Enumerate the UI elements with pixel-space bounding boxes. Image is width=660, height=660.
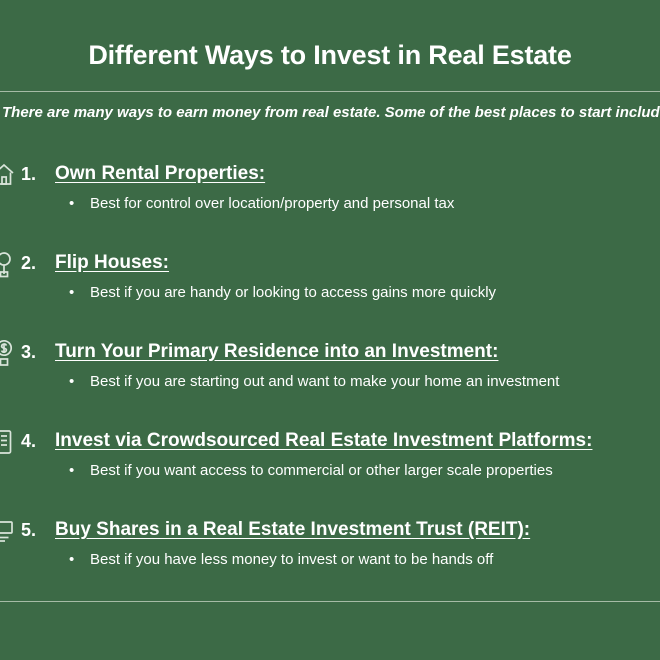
building-icon <box>0 425 17 459</box>
item-number: 3. <box>21 341 36 363</box>
item-number: 4. <box>21 430 36 452</box>
bullet-glyph: • <box>69 194 74 214</box>
list-item: 3. Turn Your Primary Residence into an I… <box>0 330 660 419</box>
item-heading[interactable]: Own Rental Properties: <box>55 162 265 186</box>
invest-methods-list: 1. Own Rental Properties: • Best for con… <box>0 152 660 588</box>
bullet-glyph: • <box>69 550 74 570</box>
list-item: 1. Own Rental Properties: • Best for con… <box>0 152 660 241</box>
item-detail: Best for control over location/property … <box>90 194 454 214</box>
item-detail: Best if you have less money to invest or… <box>90 550 493 570</box>
subtitle-text: There are many ways to earn money from r… <box>2 103 658 123</box>
item-heading[interactable]: Invest via Crowdsourced Real Estate Inve… <box>55 429 592 453</box>
item-detail: Best if you want access to commercial or… <box>90 461 553 481</box>
divider-bottom <box>0 601 660 602</box>
list-item: 4. Invest via Crowdsourced Real Estate I… <box>0 419 660 508</box>
house-icon <box>0 158 17 192</box>
item-heading[interactable]: Turn Your Primary Residence into an Inve… <box>55 340 498 364</box>
item-detail: Best if you are starting out and want to… <box>90 372 559 392</box>
item-heading[interactable]: Flip Houses: <box>55 251 169 275</box>
slide-canvas: Different Ways to Invest in Real Estate … <box>0 0 660 660</box>
item-number: 5. <box>21 519 36 541</box>
bullet-glyph: • <box>69 461 74 481</box>
hammer-icon <box>0 247 17 281</box>
bullet-glyph: • <box>69 283 74 303</box>
item-heading[interactable]: Buy Shares in a Real Estate Investment T… <box>55 518 530 542</box>
list-item: 2. Flip Houses: • Best if you are handy … <box>0 241 660 330</box>
bullet-glyph: • <box>69 372 74 392</box>
divider-top <box>0 91 660 92</box>
dollar-circle-icon <box>0 336 17 370</box>
certificate-icon <box>0 514 17 548</box>
item-number: 1. <box>21 163 36 185</box>
page-title: Different Ways to Invest in Real Estate <box>0 38 660 72</box>
item-detail: Best if you are handy or looking to acce… <box>90 283 496 303</box>
list-item: 5. Buy Shares in a Real Estate Investmen… <box>0 508 660 588</box>
item-number: 2. <box>21 252 36 274</box>
